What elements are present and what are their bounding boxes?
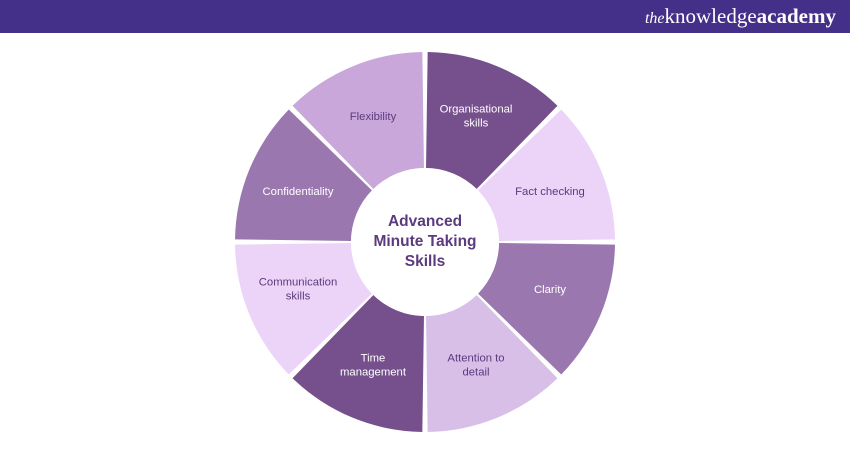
center-title-line-2: Minute Taking — [345, 232, 505, 252]
logo-word-the: the — [645, 10, 665, 27]
infographic-page: theknowledgeacademy Organisationalskills… — [0, 0, 850, 450]
logo-word-academy: academy — [757, 4, 836, 28]
center-title-line-3: Skills — [345, 252, 505, 272]
chart-center-title: Advanced Minute Taking Skills — [345, 212, 505, 272]
logo-word-knowledge: knowledge — [665, 4, 757, 28]
brand-logo: theknowledgeacademy — [645, 6, 836, 27]
donut-chart: Organisationalskills Fact checking Clari… — [225, 42, 625, 442]
chart-area: Organisationalskills Fact checking Clari… — [0, 33, 850, 450]
header-bar: theknowledgeacademy — [0, 0, 850, 33]
center-title-line-1: Advanced — [345, 212, 505, 232]
